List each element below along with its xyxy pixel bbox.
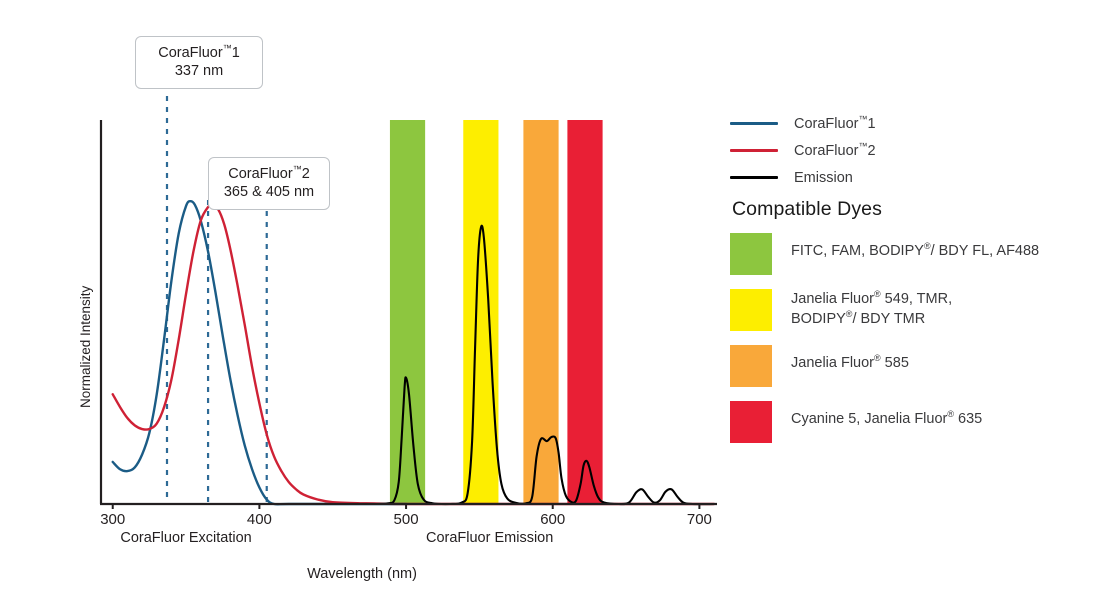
legend-item-0[interactable]: CoraFluor™1 — [730, 110, 1110, 137]
compatible-dyes-list: FITC, FAM, BODIPY®/ BDY FL, AF488Janelia… — [730, 233, 1110, 457]
legend-line-swatch — [730, 122, 778, 125]
red-band — [567, 120, 602, 504]
callout-2-line2: 365 & 405 nm — [221, 183, 317, 201]
x-tick-label-700: 700 — [669, 511, 729, 528]
legend-item-1[interactable]: CoraFluor™2 — [730, 137, 1110, 164]
dye-label-line: Janelia Fluor® 585 — [791, 354, 909, 374]
dye-item-label: FITC, FAM, BODIPY®/ BDY FL, AF488 — [791, 233, 1039, 262]
legend-panel: CoraFluor™1CoraFluor™2Emission Compatibl… — [730, 0, 1110, 612]
callout-2-line1: CoraFluor™2 — [228, 166, 310, 182]
emission-range-label: CoraFluor Emission — [360, 530, 620, 546]
legend-item-label: CoraFluor™2 — [794, 143, 876, 159]
x-tick-label-600: 600 — [523, 511, 583, 528]
legend-line-swatch — [730, 176, 778, 179]
callout-1-line1: CoraFluor™1 — [158, 45, 240, 61]
dye-item-label: Janelia Fluor® 549, TMR,BODIPY®/ BDY TMR — [791, 289, 952, 329]
figure-root: CoraFluor™1 337 nm CoraFluor™2 365 & 405… — [0, 0, 1110, 612]
dye-color-swatch — [730, 401, 772, 443]
x-axis-title: Wavelength (nm) — [212, 566, 512, 582]
chart-area: CoraFluor™1 337 nm CoraFluor™2 365 & 405… — [0, 0, 730, 612]
excitation-range-label: CoraFluor Excitation — [56, 530, 316, 546]
yellow-band — [463, 120, 498, 504]
dye-color-swatch — [730, 289, 772, 331]
legend-line-swatch — [730, 149, 778, 152]
dye-item-label: Janelia Fluor® 585 — [791, 345, 909, 374]
dye-label-line: FITC, FAM, BODIPY®/ BDY FL, AF488 — [791, 242, 1039, 262]
callout-corafluor2: CoraFluor™2 365 & 405 nm — [208, 157, 330, 210]
dye-item-2[interactable]: Janelia Fluor® 585 — [730, 345, 1110, 401]
dye-label-line: Cyanine 5, Janelia Fluor® 635 — [791, 410, 982, 430]
dye-item-3[interactable]: Cyanine 5, Janelia Fluor® 635 — [730, 401, 1110, 457]
compatible-dyes-heading: Compatible Dyes — [732, 198, 882, 221]
dye-color-swatch — [730, 345, 772, 387]
callout-1-line2: 337 nm — [148, 62, 250, 80]
legend-item-2[interactable]: Emission — [730, 164, 1110, 191]
x-tick-label-400: 400 — [229, 511, 289, 528]
legend-item-label: Emission — [794, 170, 853, 186]
callout-corafluor1: CoraFluor™1 337 nm — [135, 36, 263, 89]
dye-item-0[interactable]: FITC, FAM, BODIPY®/ BDY FL, AF488 — [730, 233, 1110, 289]
dye-label-line: BODIPY®/ BDY TMR — [791, 310, 952, 330]
series-curve-corafluor1 — [113, 201, 406, 504]
x-tick-label-300: 300 — [83, 511, 143, 528]
legend-item-label: CoraFluor™1 — [794, 116, 876, 132]
dye-item-1[interactable]: Janelia Fluor® 549, TMR,BODIPY®/ BDY TMR — [730, 289, 1110, 345]
green-band — [390, 120, 425, 504]
orange-band — [523, 120, 558, 504]
dye-color-swatch — [730, 233, 772, 275]
dye-item-label: Cyanine 5, Janelia Fluor® 635 — [791, 401, 982, 430]
y-axis-title: Normalized Intensity — [78, 286, 93, 408]
series-legend: CoraFluor™1CoraFluor™2Emission — [730, 110, 1110, 191]
x-tick-label-500: 500 — [376, 511, 436, 528]
dye-label-line: Janelia Fluor® 549, TMR, — [791, 290, 952, 310]
